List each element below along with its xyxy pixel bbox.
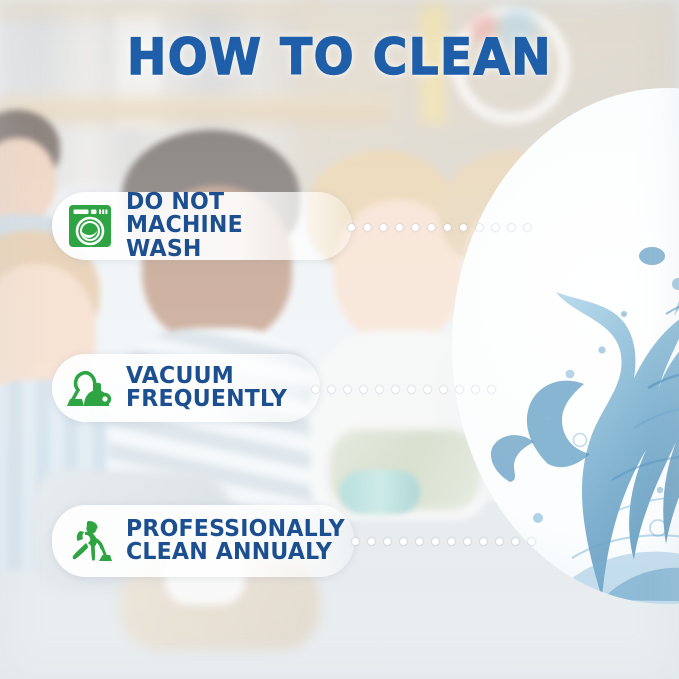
badge-vacuum-frequently[interactable]: VACUUM FREQUENTLY bbox=[52, 354, 320, 422]
badge-do-not-machine-wash[interactable]: DO NOT MACHINE WASH bbox=[52, 192, 352, 260]
badge-professionally-clean-annualy[interactable]: PROFESSIONALLY CLEAN ANNUALY bbox=[52, 505, 354, 577]
water-splash-circle bbox=[452, 88, 679, 604]
badge-label: VACUUM FREQUENTLY bbox=[126, 365, 287, 412]
badge-label: PROFESSIONALLY CLEAN ANNUALY bbox=[126, 518, 345, 565]
page-title: HOW TO CLEAN bbox=[20, 28, 658, 86]
washing-machine-icon bbox=[66, 202, 114, 250]
professional-cleaner-icon bbox=[66, 517, 114, 565]
connector-dots-1 bbox=[348, 223, 531, 231]
infographic-canvas: HOW TO CLEAN DO NOT MACHINE WASH bbox=[0, 0, 679, 679]
vacuum-cleaner-icon bbox=[66, 364, 114, 412]
water-splash-illustration bbox=[452, 88, 679, 604]
connector-dots-2 bbox=[312, 385, 495, 393]
badge-label: DO NOT MACHINE WASH bbox=[126, 191, 318, 261]
connector-dots-3 bbox=[352, 537, 535, 545]
